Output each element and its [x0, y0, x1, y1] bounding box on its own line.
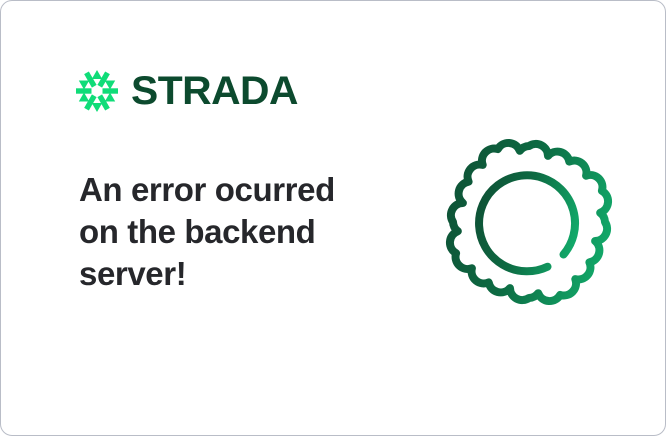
gear-icon — [443, 136, 615, 308]
brand-wordmark: STRADA — [131, 71, 298, 111]
brand-lockup: STRADA — [75, 69, 295, 113]
error-card: STRADA An error ocurred on the backend s… — [0, 0, 666, 436]
error-message: An error ocurred on the backend server! — [79, 169, 379, 295]
strada-asterisk-icon — [75, 69, 119, 113]
